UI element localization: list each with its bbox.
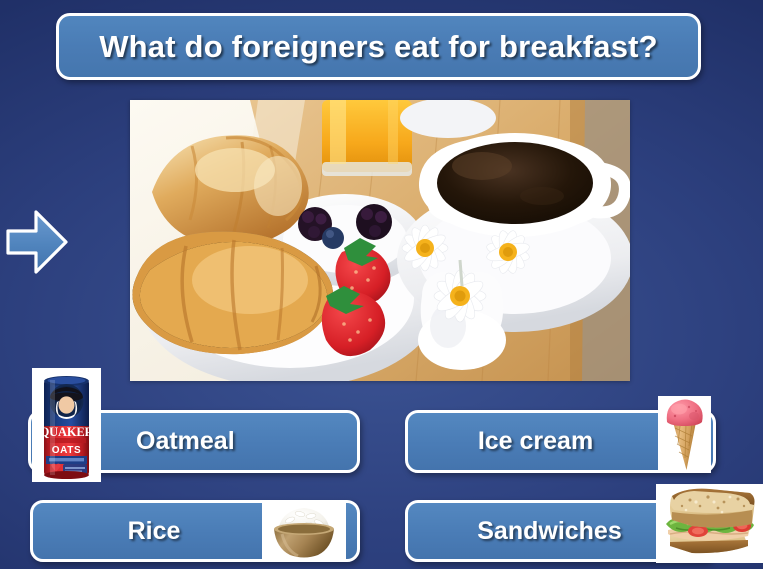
svg-text:OATS: OATS	[52, 445, 81, 456]
question-title-box: What do foreigners eat for breakfast?	[56, 13, 701, 80]
page-title: What do foreigners eat for breakfast?	[99, 29, 658, 65]
ice-cream-cone-thumbnail	[658, 396, 711, 473]
svg-text:QUAKER: QUAKER	[40, 425, 95, 439]
right-arrow-icon[interactable]	[4, 203, 70, 281]
quiz-slide: What do foreigners eat for breakfast?	[0, 0, 763, 569]
rice-bowl-thumbnail	[262, 500, 346, 562]
sandwich-thumbnail	[656, 484, 763, 563]
breakfast-photo	[130, 100, 630, 381]
quaker-oats-thumbnail: QUAKER OATS	[32, 368, 101, 482]
